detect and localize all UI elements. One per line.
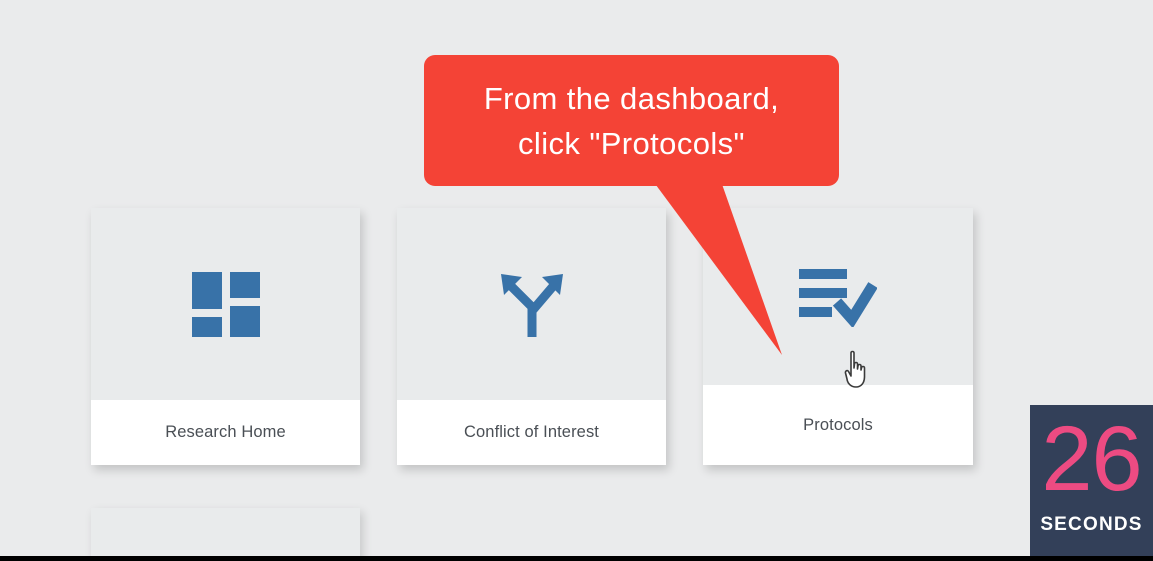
callout-line-1: From the dashboard, (484, 76, 779, 121)
bottom-black-strip (0, 556, 1153, 561)
card-research-home[interactable]: Research Home (91, 208, 360, 465)
pointing-hand-cursor (840, 350, 872, 390)
card-label-conflict-of-interest: Conflict of Interest (464, 423, 599, 442)
card-label-band: Protocols (703, 385, 973, 465)
card-partial-next-row[interactable] (91, 508, 360, 561)
countdown-timer-widget: 26 SECONDS (1030, 405, 1153, 557)
card-label-band: Conflict of Interest (397, 400, 666, 465)
dashboard-grid-icon (192, 272, 260, 337)
timer-value: 26 (1041, 405, 1141, 513)
card-label-research-home: Research Home (165, 423, 286, 442)
timer-unit-label: SECONDS (1040, 513, 1142, 537)
card-label-band: Research Home (91, 400, 360, 465)
card-label-protocols: Protocols (803, 416, 873, 435)
instruction-callout: From the dashboard, click "Protocols" (424, 55, 839, 186)
callout-line-2: click "Protocols" (518, 121, 745, 166)
fork-arrows-icon (498, 271, 566, 337)
card-icon-area (91, 208, 360, 400)
